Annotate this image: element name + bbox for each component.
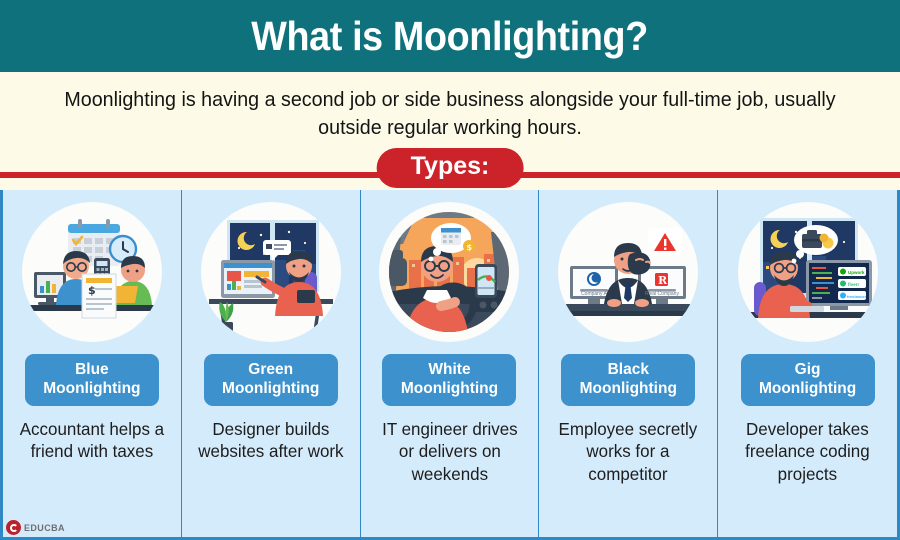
illustration-accountant: $: [22, 202, 162, 342]
card-body-green: Designer builds websites after work: [190, 418, 351, 463]
card-label-blue-line2: Moonlighting: [29, 380, 155, 399]
card-label-black-line2: Moonlighting: [565, 380, 691, 399]
svg-text:R: R: [658, 274, 668, 287]
driver-illustration-svg: $: [379, 202, 519, 342]
card-body-black: Employee secretly works for a competitor: [548, 418, 709, 485]
card-body-blue: Accountant helps a friend with taxes: [11, 418, 172, 463]
card-label-blue: Blue Moonlighting: [25, 354, 159, 406]
card-label-gig-line2: Moonlighting: [745, 380, 871, 399]
accountant-illustration-svg: $: [22, 202, 162, 342]
card-label-white-line1: White: [386, 361, 512, 380]
types-card-row: $ Blue Moonlighting Accountant helps a f…: [0, 190, 900, 540]
monitor-right-label: Rival Company: [645, 291, 679, 297]
platform-upwork-label: Upwork: [848, 270, 865, 275]
card-white-moonlighting[interactable]: $ White Moonlighting IT engineer drives …: [361, 190, 540, 537]
card-label-blue-line1: Blue: [29, 361, 155, 380]
infographic-root: What is Moonlighting? Moonlighting is ha…: [0, 0, 900, 540]
educba-watermark: EDUCBA: [6, 520, 65, 535]
platform-freelancer-label: freelancer: [847, 294, 867, 299]
educba-label: EDUCBA: [24, 523, 65, 533]
card-blue-moonlighting[interactable]: $ Blue Moonlighting Accountant helps a f…: [3, 190, 182, 537]
card-body-white: IT engineer drives or delivers on weeken…: [369, 418, 530, 485]
card-gig-moonlighting[interactable]: Upwork fiverr freelancer: [718, 190, 897, 537]
platform-fiverr-label: fiverr: [848, 282, 860, 287]
designer-illustration-svg: [201, 202, 341, 342]
header-band: What is Moonlighting?: [0, 0, 900, 72]
masked-employee-illustration-svg: R: [558, 202, 698, 342]
illustration-developer: Upwork fiverr freelancer: [738, 202, 878, 342]
card-label-white: White Moonlighting: [382, 354, 516, 406]
illustration-designer: [201, 202, 341, 342]
card-label-black: Black Moonlighting: [561, 354, 695, 406]
card-green-moonlighting[interactable]: Green Moonlighting Designer builds websi…: [182, 190, 361, 537]
monitor-left-label: Company A: [581, 291, 608, 297]
illustration-masked-employee: R: [558, 202, 698, 342]
card-label-gig-line1: Gig: [745, 361, 871, 380]
educba-logo-icon: [6, 520, 21, 535]
card-label-green-line2: Moonlighting: [208, 380, 334, 399]
card-label-green: Green Moonlighting: [204, 354, 338, 406]
description-text: Moonlighting is having a second job or s…: [51, 86, 850, 142]
card-label-gig: Gig Moonlighting: [741, 354, 875, 406]
types-badge: Types:: [377, 148, 524, 188]
svg-text:$: $: [467, 243, 473, 252]
card-body-gig: Developer takes freelance coding project…: [727, 418, 889, 485]
types-divider-band: Types:: [0, 154, 900, 188]
svg-text:$: $: [88, 284, 96, 297]
description-section: Moonlighting is having a second job or s…: [0, 72, 900, 154]
page-title: What is Moonlighting?: [252, 16, 649, 57]
card-label-green-line1: Green: [208, 361, 334, 380]
card-black-moonlighting[interactable]: R: [539, 190, 718, 537]
card-label-white-line2: Moonlighting: [386, 380, 512, 399]
card-label-black-line1: Black: [565, 361, 691, 380]
illustration-driver: $: [379, 202, 519, 342]
developer-illustration-svg: Upwork fiverr freelancer: [738, 202, 878, 342]
